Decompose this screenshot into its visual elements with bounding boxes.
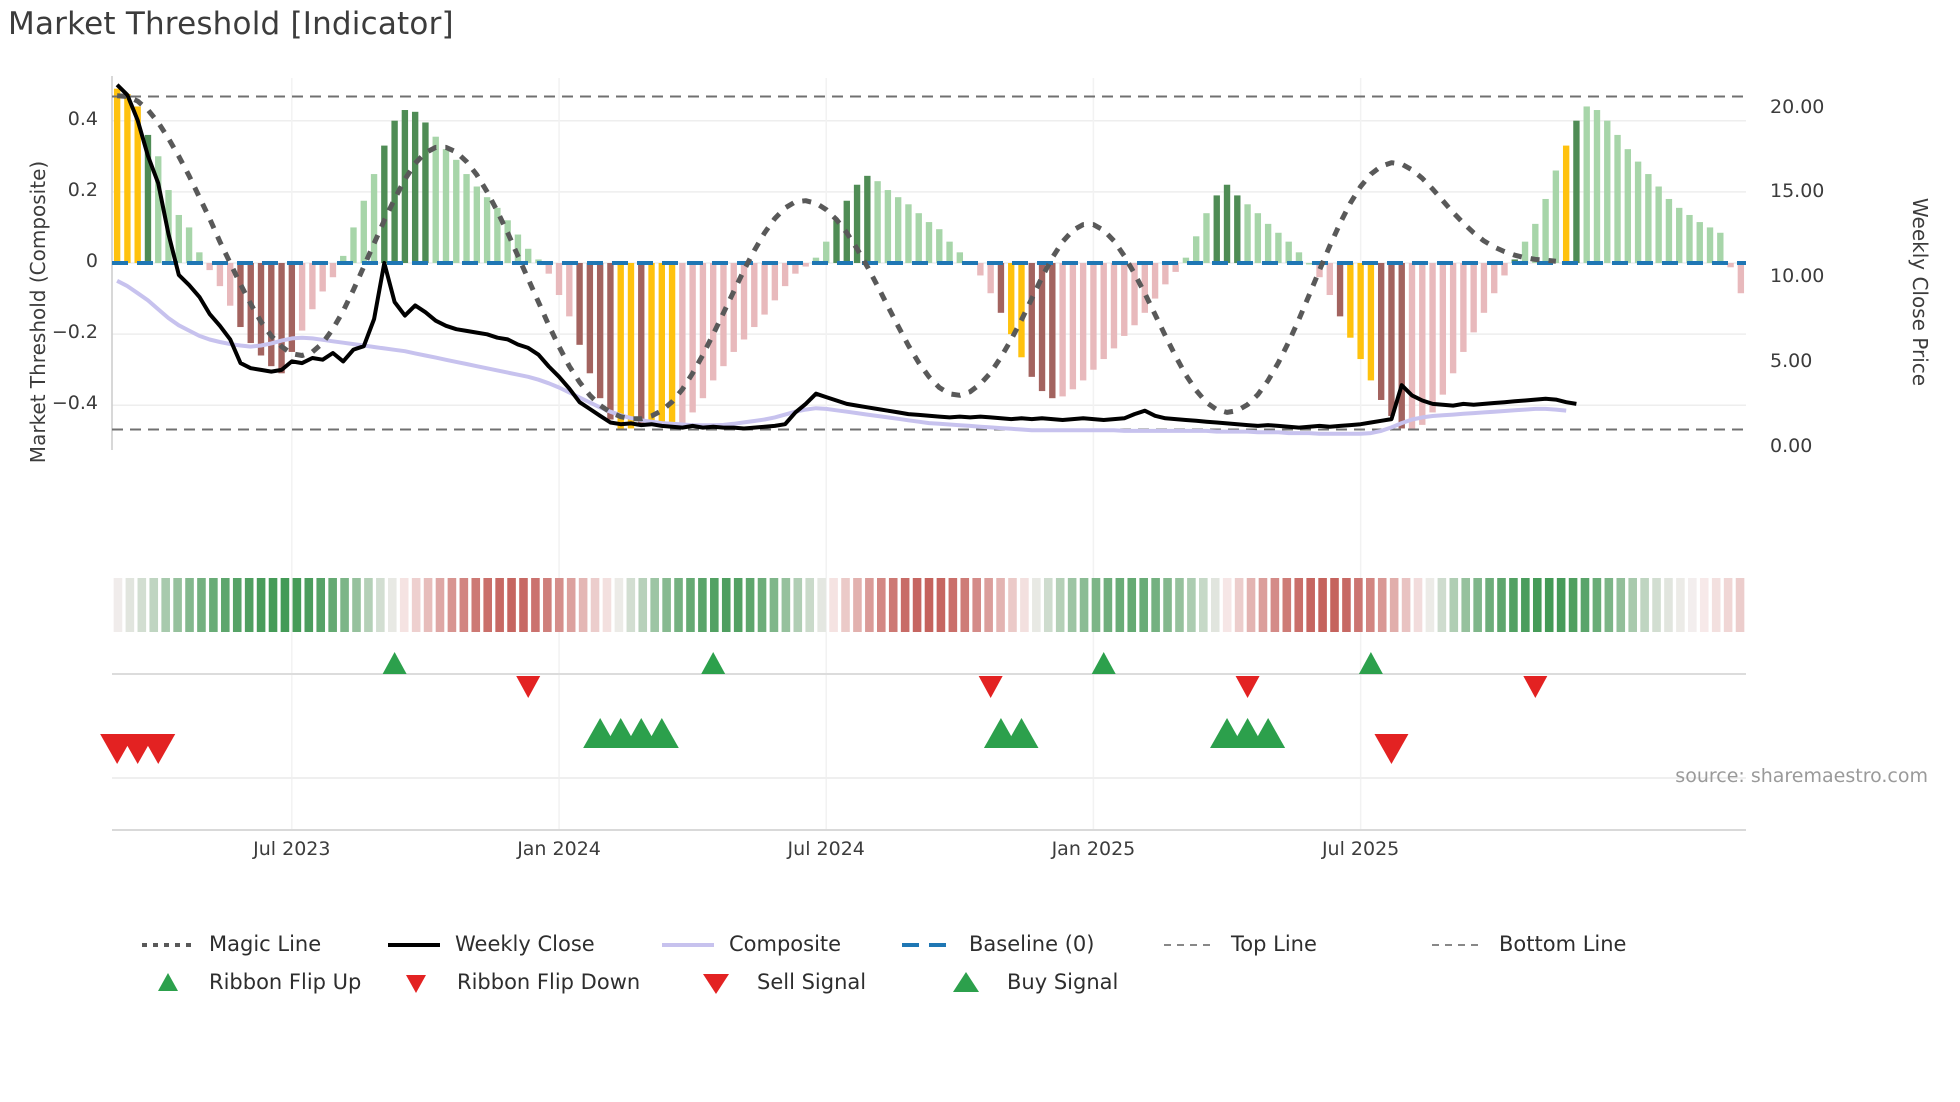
ribbon-band xyxy=(913,578,922,632)
histogram-bar xyxy=(278,263,284,373)
legend-swatch xyxy=(660,933,716,955)
ribbon-band xyxy=(126,578,135,632)
histogram-bar xyxy=(422,122,428,263)
histogram-bar xyxy=(1399,263,1405,428)
histogram-bar xyxy=(710,263,716,380)
ribbon-band xyxy=(1545,578,1554,632)
histogram-bar xyxy=(114,89,120,263)
ribbon-band xyxy=(1736,578,1745,632)
histogram-bar xyxy=(1224,185,1230,263)
ribbon-band xyxy=(1175,578,1184,632)
ribbon-band xyxy=(1593,578,1602,632)
ribbon-band xyxy=(1605,578,1614,632)
histogram-bar xyxy=(402,110,408,263)
ribbon-band xyxy=(1676,578,1685,632)
ribbon-band xyxy=(841,578,850,632)
histogram-bar xyxy=(936,229,942,263)
ribbon-band xyxy=(1044,578,1053,632)
triangle-up-icon xyxy=(953,972,979,992)
histogram-bar xyxy=(124,94,130,263)
histogram-bar xyxy=(1203,213,1209,263)
histogram-bar xyxy=(679,263,685,425)
ribbon-band xyxy=(722,578,731,632)
ribbon-band xyxy=(316,578,325,632)
ribbon-flip-down-marker xyxy=(1523,676,1547,698)
ribbon-band xyxy=(1187,578,1196,632)
ribbon-band xyxy=(734,578,743,632)
histogram-bar xyxy=(1275,233,1281,263)
histogram-bar xyxy=(1676,208,1682,263)
ribbon-flip-up-marker xyxy=(383,652,407,674)
ribbon-band xyxy=(1104,578,1113,632)
histogram-bar xyxy=(1666,199,1672,263)
ribbon-band xyxy=(209,578,218,632)
histogram-bar xyxy=(217,263,223,286)
ribbon-band xyxy=(627,578,636,632)
legend-label: Ribbon Flip Down xyxy=(457,970,640,994)
source-attribution: source: sharemaestro.com xyxy=(1675,765,1928,787)
ribbon-band xyxy=(1366,578,1375,632)
ribbon-band xyxy=(149,578,158,632)
histogram-bar xyxy=(607,263,613,420)
histogram-bar xyxy=(1059,263,1065,396)
legend-signal-item-3[interactable]: Sell Signal xyxy=(688,970,938,994)
legend-item-6[interactable]: Bottom Line xyxy=(1430,932,1690,956)
legend-row-primary: Magic LineWeekly CloseCompositeBaseline … xyxy=(140,925,1840,963)
ribbon-band xyxy=(460,578,469,632)
histogram-bar xyxy=(741,263,747,339)
ribbon-band xyxy=(579,578,588,632)
legend-item-3[interactable]: Composite xyxy=(660,932,900,956)
histogram-bar xyxy=(1717,233,1723,263)
histogram-bar xyxy=(463,174,469,263)
ribbon-flip-up-marker xyxy=(1359,652,1383,674)
ribbon-band xyxy=(471,578,480,632)
ribbon-band xyxy=(1664,578,1673,632)
ribbon-band xyxy=(591,578,600,632)
ribbon-band xyxy=(352,578,361,632)
ribbon-band xyxy=(1557,578,1566,632)
ribbon-band xyxy=(436,578,445,632)
histogram-bar xyxy=(1429,263,1435,412)
ribbon-band xyxy=(233,578,242,632)
ribbon-band xyxy=(1652,578,1661,632)
ribbon-band xyxy=(483,578,492,632)
ribbon-band xyxy=(710,578,719,632)
histogram-bar xyxy=(1090,263,1096,370)
buy-signal-marker xyxy=(645,718,679,748)
histogram-bar xyxy=(1707,227,1713,263)
histogram-bar xyxy=(371,174,377,263)
ribbon-band xyxy=(937,578,946,632)
ribbon-band xyxy=(1533,578,1542,632)
market-threshold-chart xyxy=(0,0,1960,900)
triangle-down-icon xyxy=(703,974,729,994)
ribbon-band xyxy=(328,578,337,632)
histogram-bar xyxy=(1584,106,1590,263)
ribbon-band xyxy=(782,578,791,632)
histogram-bar xyxy=(1635,162,1641,263)
histogram-bar xyxy=(946,242,952,263)
legend-label: Ribbon Flip Up xyxy=(209,970,361,994)
histogram-bar xyxy=(1162,263,1168,284)
legend-signal-item-4[interactable]: Buy Signal xyxy=(938,970,1198,994)
ribbon-band xyxy=(1020,578,1029,632)
ribbon-band xyxy=(972,578,981,632)
ribbon-band xyxy=(1330,578,1339,632)
histogram-bar xyxy=(1604,121,1610,263)
ribbon-band xyxy=(805,578,814,632)
ribbon-flip-down-marker xyxy=(979,676,1003,698)
ribbon-band xyxy=(340,578,349,632)
histogram-bar xyxy=(1347,263,1353,338)
ribbon-band xyxy=(448,578,457,632)
histogram-bar xyxy=(1470,263,1476,332)
histogram-bar xyxy=(895,197,901,263)
ribbon-band xyxy=(638,578,647,632)
histogram-bar xyxy=(176,215,182,263)
legend-signal-item-2[interactable]: Ribbon Flip Down xyxy=(388,970,688,994)
histogram-bar xyxy=(1686,215,1692,263)
histogram-bar xyxy=(1234,195,1240,263)
histogram-bar xyxy=(504,220,510,263)
histogram-bar xyxy=(1645,174,1651,263)
histogram-bar xyxy=(1409,263,1415,430)
ribbon-band xyxy=(877,578,886,632)
histogram-bar xyxy=(761,263,767,315)
histogram-bar xyxy=(1214,195,1220,263)
ribbon-band xyxy=(1378,578,1387,632)
ribbon-band xyxy=(1235,578,1244,632)
histogram-bar xyxy=(1573,121,1579,263)
histogram-bar xyxy=(864,176,870,263)
histogram-bar xyxy=(772,263,778,300)
ribbon-band xyxy=(161,578,170,632)
legend-swatch xyxy=(900,933,956,955)
histogram-bar xyxy=(1738,263,1744,293)
legend-item-5[interactable]: Top Line xyxy=(1162,932,1430,956)
ribbon-band xyxy=(495,578,504,632)
histogram-bar xyxy=(1522,242,1528,263)
histogram-bar xyxy=(474,187,480,263)
histogram-bar xyxy=(1049,263,1055,398)
histogram-bar xyxy=(1440,263,1446,395)
histogram-bar xyxy=(1491,263,1497,293)
ribbon-band xyxy=(1688,578,1697,632)
histogram-bar xyxy=(299,263,305,331)
ribbon-band xyxy=(1223,578,1232,632)
histogram-bar xyxy=(1080,263,1086,380)
histogram-bar xyxy=(412,112,418,263)
histogram-bar xyxy=(1327,263,1333,295)
ribbon-band xyxy=(853,578,862,632)
histogram-bar xyxy=(576,263,582,345)
legend-item-1[interactable]: Magic Line xyxy=(140,932,386,956)
ribbon-band xyxy=(758,578,767,632)
ribbon-band xyxy=(1151,578,1160,632)
histogram-bar xyxy=(237,263,243,327)
ribbon-band xyxy=(865,578,874,632)
histogram-bar xyxy=(1121,263,1127,336)
legend-item-2[interactable]: Weekly Close xyxy=(386,932,660,956)
ribbon-band xyxy=(197,578,206,632)
ribbon-band xyxy=(674,578,683,632)
legend-label: Baseline (0) xyxy=(969,932,1094,956)
ribbon-band xyxy=(1473,578,1482,632)
ribbon-band xyxy=(1342,578,1351,632)
ribbon-band xyxy=(1247,578,1256,632)
ribbon-band xyxy=(1449,578,1458,632)
histogram-bar xyxy=(823,242,829,263)
legend-label: Composite xyxy=(729,932,841,956)
ribbon-band xyxy=(662,578,671,632)
histogram-bar xyxy=(1594,110,1600,263)
ribbon-band xyxy=(507,578,516,632)
histogram-bar xyxy=(1450,263,1456,373)
ribbon-band xyxy=(1461,578,1470,632)
ribbon-band xyxy=(1628,578,1637,632)
ribbon-band xyxy=(412,578,421,632)
histogram-bar xyxy=(751,263,757,327)
ribbon-band xyxy=(281,578,290,632)
ribbon-band xyxy=(615,578,624,632)
ribbon-band xyxy=(1008,578,1017,632)
histogram-bar xyxy=(566,263,572,316)
ribbon-band xyxy=(960,578,969,632)
histogram-bar xyxy=(1306,263,1312,265)
histogram-bar xyxy=(802,263,808,267)
legend-swatch xyxy=(1430,933,1486,955)
legend-label: Bottom Line xyxy=(1499,932,1626,956)
ribbon-band xyxy=(996,578,1005,632)
histogram-bar xyxy=(1070,263,1076,389)
ribbon-band xyxy=(1426,578,1435,632)
sell-signal-marker xyxy=(141,734,175,764)
ribbon-band xyxy=(925,578,934,632)
ribbon-band xyxy=(650,578,659,632)
ribbon-band xyxy=(1080,578,1089,632)
ribbon-band xyxy=(555,578,564,632)
histogram-bar xyxy=(638,263,644,425)
legend-swatch xyxy=(386,933,442,955)
histogram-bar xyxy=(1625,149,1631,263)
histogram-bar xyxy=(1727,263,1733,267)
ribbon-band xyxy=(1521,578,1530,632)
buy-signal-marker xyxy=(1004,718,1038,748)
histogram-bar xyxy=(1337,263,1343,316)
histogram-bar xyxy=(977,263,983,275)
ribbon-band xyxy=(376,578,385,632)
ribbon-band xyxy=(1092,578,1101,632)
histogram-bar xyxy=(1481,263,1487,313)
histogram-bar xyxy=(453,160,459,263)
ribbon-band xyxy=(686,578,695,632)
histogram-bar xyxy=(1008,263,1014,334)
histogram-bar xyxy=(1460,263,1466,352)
buy-signal-marker xyxy=(1251,718,1285,748)
ribbon-band xyxy=(1390,578,1399,632)
histogram-bar xyxy=(689,263,695,412)
histogram-bar xyxy=(494,208,500,263)
ribbon-band xyxy=(221,578,230,632)
ribbon-band xyxy=(1306,578,1315,632)
legend-signal-item-1[interactable]: Ribbon Flip Up xyxy=(140,970,388,994)
histogram-bar xyxy=(700,263,706,398)
histogram-bar xyxy=(1285,242,1291,263)
histogram-bar xyxy=(833,220,839,263)
histogram-bar xyxy=(381,146,387,263)
legend-swatch xyxy=(388,971,444,993)
triangle-up-icon xyxy=(158,973,178,991)
ribbon-band xyxy=(901,578,910,632)
ribbon-band xyxy=(1438,578,1447,632)
legend-swatch xyxy=(938,971,994,993)
ribbon-band xyxy=(984,578,993,632)
histogram-bar xyxy=(885,190,891,263)
sell-signal-marker xyxy=(1374,734,1408,764)
ribbon-band xyxy=(1724,578,1733,632)
histogram-bar xyxy=(206,263,212,270)
histogram-bar xyxy=(731,263,737,352)
histogram-bar xyxy=(319,263,325,291)
histogram-bar xyxy=(874,181,880,263)
ribbon-band xyxy=(817,578,826,632)
ribbon-band xyxy=(1354,578,1363,632)
histogram-bar xyxy=(525,249,531,263)
chart-page: Market Threshold [Indicator] Market Thre… xyxy=(0,0,1960,1102)
histogram-bar xyxy=(1029,263,1035,377)
ribbon-band xyxy=(531,578,540,632)
ribbon-band xyxy=(400,578,409,632)
histogram-bar xyxy=(1542,199,1548,263)
histogram-bar xyxy=(1193,236,1199,263)
ribbon-band xyxy=(114,578,123,632)
histogram-bar xyxy=(1101,263,1107,359)
histogram-bar xyxy=(1152,263,1158,299)
ribbon-band xyxy=(293,578,302,632)
legend-item-4[interactable]: Baseline (0) xyxy=(900,932,1162,956)
legend-swatch xyxy=(140,971,196,993)
ribbon-band xyxy=(257,578,266,632)
histogram-bar xyxy=(998,263,1004,313)
ribbon-band xyxy=(245,578,254,632)
histogram-bar xyxy=(186,227,192,263)
histogram-bar xyxy=(484,197,490,263)
histogram-bar xyxy=(1378,263,1384,400)
histogram-bar xyxy=(1553,171,1559,264)
ribbon-band xyxy=(305,578,314,632)
ribbon-band xyxy=(1402,578,1411,632)
ribbon-band xyxy=(185,578,194,632)
ribbon-band xyxy=(1032,578,1041,632)
histogram-bar xyxy=(1388,263,1394,416)
histogram-bar xyxy=(443,149,449,263)
ribbon-band xyxy=(889,578,898,632)
legend-swatch xyxy=(1162,933,1218,955)
histogram-bar xyxy=(628,263,634,428)
histogram-bar xyxy=(1655,187,1661,263)
ribbon-band xyxy=(1211,578,1220,632)
histogram-bar xyxy=(916,213,922,263)
ribbon-flip-up-marker xyxy=(701,652,725,674)
ribbon-band xyxy=(173,578,182,632)
histogram-bar xyxy=(618,263,624,430)
histogram-bar xyxy=(597,263,603,398)
ribbon-band xyxy=(949,578,958,632)
ribbon-band xyxy=(1640,578,1649,632)
ribbon-band xyxy=(519,578,528,632)
ribbon-band xyxy=(1581,578,1590,632)
ribbon-band xyxy=(1485,578,1494,632)
histogram-bar xyxy=(556,263,562,295)
legend-swatch xyxy=(140,933,196,955)
ribbon-band xyxy=(138,578,147,632)
ribbon-band xyxy=(1712,578,1721,632)
ribbon-band xyxy=(698,578,707,632)
ribbon-band xyxy=(1569,578,1578,632)
ribbon-band xyxy=(424,578,433,632)
histogram-bar xyxy=(433,137,439,263)
chart-legend: Magic LineWeekly CloseCompositeBaseline … xyxy=(140,925,1840,1001)
ribbon-band xyxy=(746,578,755,632)
ribbon-band xyxy=(1700,578,1709,632)
ribbon-flip-down-marker xyxy=(1236,676,1260,698)
ribbon-band xyxy=(1283,578,1292,632)
ribbon-band xyxy=(603,578,612,632)
ribbon-band xyxy=(1509,578,1518,632)
ribbon-band xyxy=(1116,578,1125,632)
histogram-bar xyxy=(1255,213,1261,263)
legend-label: Buy Signal xyxy=(1007,970,1118,994)
ribbon-band xyxy=(1294,578,1303,632)
ribbon-band xyxy=(364,578,373,632)
ribbon-band xyxy=(770,578,779,632)
legend-label: Magic Line xyxy=(209,932,321,956)
ribbon-band xyxy=(1163,578,1172,632)
ribbon-band xyxy=(1497,578,1506,632)
ribbon-flip-down-marker xyxy=(516,676,540,698)
histogram-bar xyxy=(309,263,315,309)
histogram-bar xyxy=(1265,224,1271,263)
histogram-bar xyxy=(648,263,654,421)
histogram-bar xyxy=(1368,263,1374,380)
histogram-bar xyxy=(361,201,367,263)
histogram-bar xyxy=(258,263,264,356)
ribbon-band xyxy=(543,578,552,632)
ribbon-band xyxy=(794,578,803,632)
histogram-bar xyxy=(1131,263,1137,325)
ribbon-band xyxy=(829,578,838,632)
ribbon-band xyxy=(1056,578,1065,632)
histogram-bar xyxy=(1111,263,1117,348)
ribbon-band xyxy=(1259,578,1268,632)
ribbon-band xyxy=(269,578,278,632)
ribbon-band xyxy=(1414,578,1423,632)
ribbon-band xyxy=(567,578,576,632)
ribbon-band xyxy=(388,578,397,632)
histogram-bar xyxy=(330,263,336,277)
ribbon-band xyxy=(1139,578,1148,632)
ribbon-band xyxy=(1271,578,1280,632)
ribbon-band xyxy=(1127,578,1136,632)
histogram-bar xyxy=(905,204,911,263)
legend-label: Sell Signal xyxy=(757,970,866,994)
ribbon-band xyxy=(1199,578,1208,632)
legend-row-signals: Ribbon Flip UpRibbon Flip DownSell Signa… xyxy=(140,963,1840,1001)
legend-label: Weekly Close xyxy=(455,932,595,956)
legend-swatch xyxy=(688,971,744,993)
triangle-down-icon xyxy=(406,975,426,993)
